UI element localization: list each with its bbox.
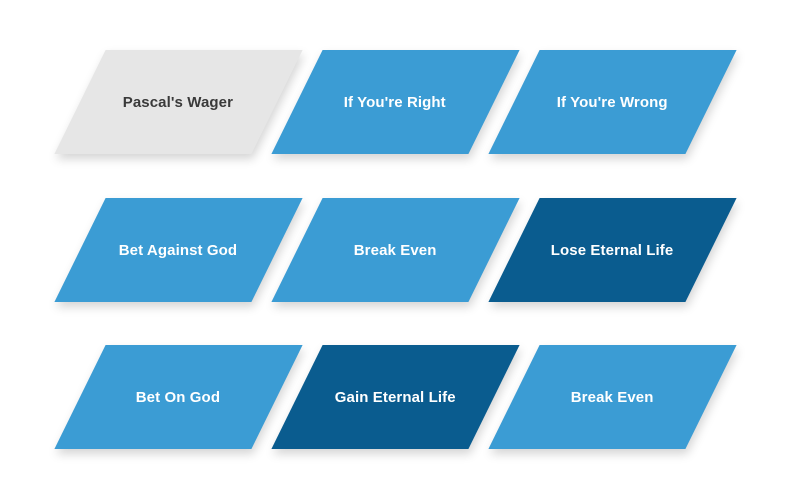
matrix-cell-label: If You're Wrong — [557, 95, 668, 110]
matrix-cell-1-2[interactable]: Lose Eternal Life — [488, 198, 736, 302]
matrix-row-2: Bet On God Gain Eternal Life Break Even — [0, 345, 800, 449]
matrix-cell-label: Gain Eternal Life — [335, 390, 456, 405]
matrix-cell-1-0[interactable]: Bet Against God — [54, 198, 302, 302]
matrix-cell-label: Break Even — [571, 390, 654, 405]
matrix-cell-2-0[interactable]: Bet On God — [54, 345, 302, 449]
matrix-cell-label: If You're Right — [344, 95, 446, 110]
matrix-row-1: Bet Against God Break Even Lose Eternal … — [0, 198, 800, 302]
matrix-cell-0-0[interactable]: Pascal's Wager — [54, 50, 302, 154]
matrix-cell-label: Bet Against God — [119, 243, 237, 258]
matrix-row-0: Pascal's Wager If You're Right If You're… — [0, 50, 800, 154]
matrix-cell-0-2[interactable]: If You're Wrong — [488, 50, 736, 154]
matrix-cell-2-1[interactable]: Gain Eternal Life — [271, 345, 519, 449]
matrix-cell-2-2[interactable]: Break Even — [488, 345, 736, 449]
matrix-cell-0-1[interactable]: If You're Right — [271, 50, 519, 154]
matrix-cell-1-1[interactable]: Break Even — [271, 198, 519, 302]
pascals-wager-matrix: Pascal's Wager If You're Right If You're… — [0, 0, 800, 496]
matrix-cell-label: Lose Eternal Life — [551, 243, 674, 258]
matrix-cell-label: Break Even — [354, 243, 437, 258]
matrix-cell-label: Bet On God — [136, 390, 220, 405]
matrix-cell-label: Pascal's Wager — [123, 95, 233, 110]
